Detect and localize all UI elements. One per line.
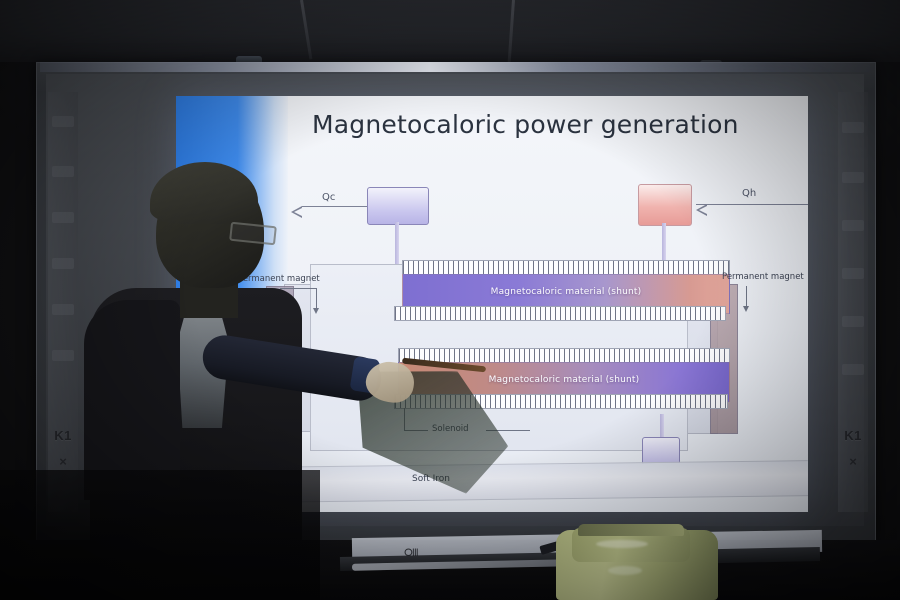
toolbar-icon-select-right[interactable]	[842, 220, 864, 231]
toolbar-icon-save-right[interactable]	[842, 364, 864, 375]
solenoid-coil-2	[394, 306, 726, 321]
foreground-dark-left	[0, 470, 320, 600]
jar-highlight-lower	[608, 566, 642, 575]
toolbar-icon-select[interactable]	[52, 212, 74, 223]
toolbar-icon-eraser[interactable]	[52, 166, 74, 177]
toolbar-icon-pen[interactable]	[52, 116, 74, 127]
qh-arrow-icon	[707, 204, 718, 216]
toolbar-label-k1-right[interactable]: K1	[838, 428, 868, 443]
cold-stem	[395, 222, 399, 268]
green-jar-cap-top	[578, 524, 684, 536]
whiteboard-toolbar-left[interactable]: K1 ×	[48, 92, 78, 512]
desk-small-marking: ⵔⵏⵏⵏ	[404, 548, 418, 559]
permanent-magnet-right-label: Permanent magnet	[722, 272, 804, 282]
toolbar-icon-undo[interactable]	[52, 304, 74, 315]
ceiling-strip	[0, 0, 900, 62]
toolbar-icon-shape[interactable]	[52, 258, 74, 269]
projector-light-reflection	[40, 62, 870, 72]
toolbar-icon-save[interactable]	[52, 350, 74, 361]
qh-label: Qh	[742, 188, 756, 199]
solenoid-coil-3	[398, 348, 730, 363]
hot-heat-exchanger	[638, 184, 692, 226]
toolbar-icon-undo-right[interactable]	[842, 316, 864, 327]
toolbar-icon-eraser-right[interactable]	[842, 172, 864, 183]
screenshot-scene: K1 × K1 × Magnetocaloric power generatio…	[0, 0, 900, 600]
shunt-top-label: Magnetocaloric material (shunt)	[403, 287, 729, 297]
solenoid-coil-1	[402, 260, 730, 275]
toolbar-icon-pen-right[interactable]	[842, 122, 864, 133]
close-icon-left[interactable]: ×	[48, 454, 78, 469]
jar-highlight-upper	[596, 540, 648, 548]
whiteboard-toolbar-right[interactable]: K1 ×	[838, 92, 868, 512]
close-icon-right[interactable]: ×	[838, 454, 868, 469]
toolbar-icon-shape-right[interactable]	[842, 268, 864, 279]
bottom-stem	[660, 414, 664, 438]
toolbar-label-k1-left[interactable]: K1	[48, 428, 78, 443]
presenter-hair	[150, 162, 258, 224]
magnet-right-leader-v	[746, 286, 747, 308]
magnet-right-arrow-icon	[743, 306, 749, 312]
slide-title: Magnetocaloric power generation	[312, 110, 782, 139]
